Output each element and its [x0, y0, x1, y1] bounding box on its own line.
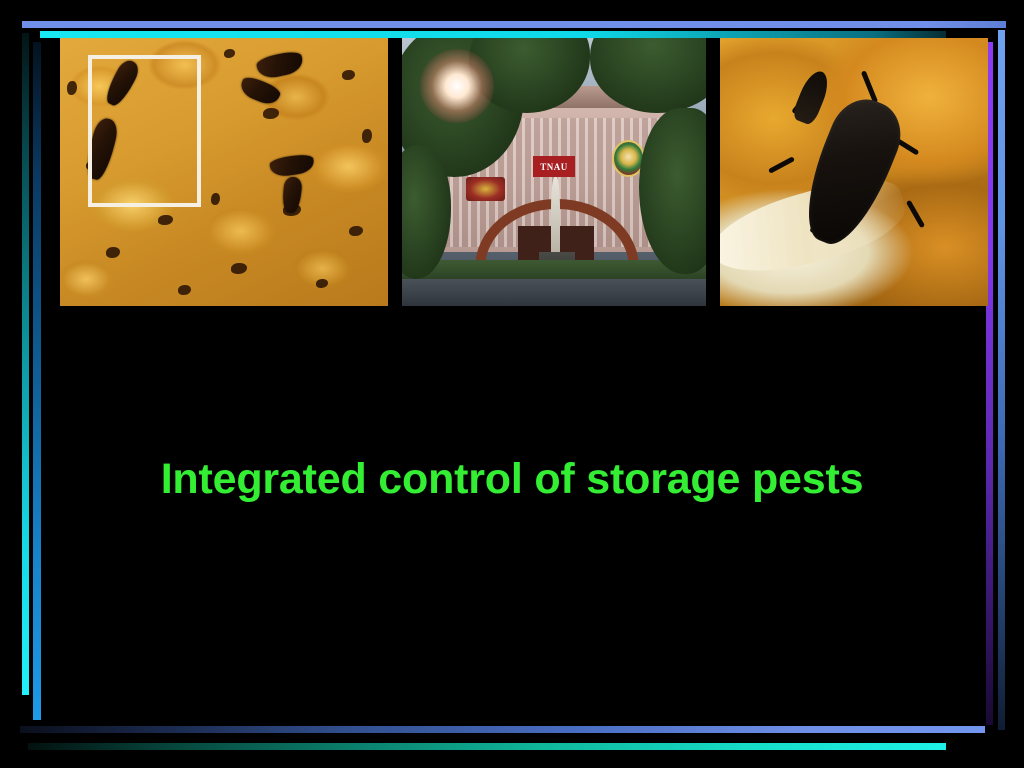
tnau-campus-image: TNAU	[402, 38, 706, 306]
road	[402, 279, 706, 306]
grain-beetles-image	[60, 38, 388, 306]
photo-grain-beetles	[60, 38, 388, 306]
grain-speck	[67, 81, 77, 95]
tree	[402, 145, 451, 279]
statue	[551, 177, 560, 257]
photo-tnau-campus: TNAU	[402, 38, 706, 306]
photo-rice-weevil	[720, 38, 988, 306]
border-bar-left-cyan	[22, 33, 29, 695]
slide: TNAU	[0, 0, 1024, 768]
page-title: Integrated control of storage pests	[0, 455, 1024, 504]
highlight-rectangle	[88, 55, 201, 207]
border-bar-top-cyan	[40, 31, 946, 38]
border-bar-right-blue	[998, 30, 1005, 730]
border-bar-left-blue	[33, 42, 41, 720]
rice-weevil-image	[720, 38, 988, 306]
lawn	[402, 260, 706, 279]
photo-row: TNAU	[60, 38, 988, 306]
left-emblem-banner	[466, 177, 506, 201]
grain-speck	[224, 49, 235, 58]
grain-speck	[349, 226, 363, 236]
border-bar-bottom-cyan	[28, 743, 946, 750]
sun-flare	[420, 49, 494, 123]
border-bar-bottom-blue	[20, 726, 985, 733]
grain-speck	[178, 285, 191, 295]
tnau-sign: TNAU	[533, 156, 576, 177]
border-bar-top-blue	[22, 21, 1006, 28]
